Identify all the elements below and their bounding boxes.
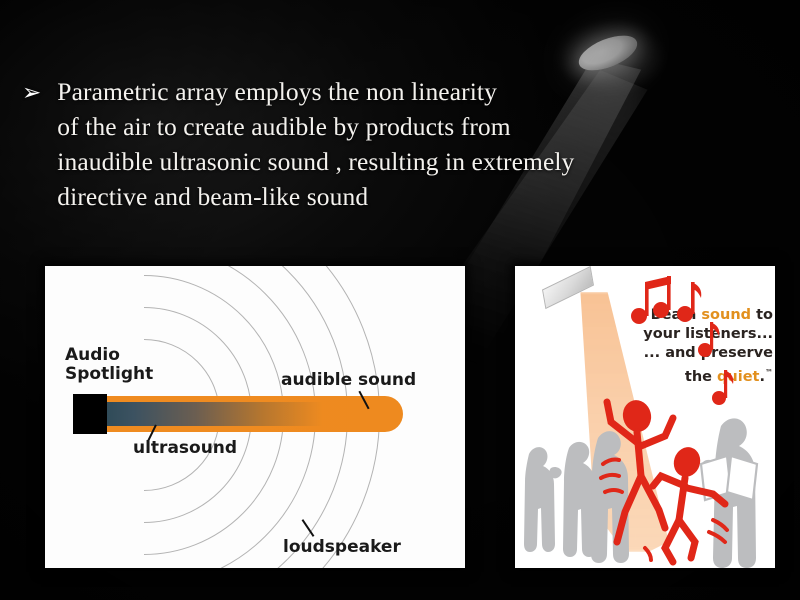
label-audible-sound: audible sound — [281, 370, 416, 390]
bullet-arrow-icon: ➢ — [22, 74, 41, 214]
slide-canvas: ➢ Parametric array employs the non linea… — [0, 0, 800, 600]
left-figure-stage: Audio Spotlight audible sound ultrasound… — [45, 266, 465, 568]
audio-spotlight-figure: Audio Spotlight audible sound ultrasound… — [45, 266, 465, 568]
label-ultrasound: ultrasound — [133, 438, 237, 458]
label-loudspeaker: loudspeaker — [283, 537, 401, 557]
music-note-icon — [631, 276, 671, 324]
crowd-illustration — [515, 266, 775, 568]
bullet-paragraph: ➢ Parametric array employs the non linea… — [22, 74, 762, 214]
music-note-icon — [698, 322, 719, 357]
music-note-icon — [677, 282, 701, 322]
music-note-icon — [712, 370, 733, 405]
grey-listener-silhouette — [563, 442, 596, 557]
label-audio-spotlight: Audio Spotlight — [65, 346, 153, 384]
audio-spotlight-emitter-icon — [73, 394, 107, 434]
beam-sound-figure: Beam sound to your listeners... ... and … — [515, 266, 775, 568]
right-figure-stage: Beam sound to your listeners... ... and … — [515, 266, 775, 568]
ultrasound-beam — [103, 402, 323, 426]
grey-listener-silhouette — [524, 447, 562, 552]
grey-listener-silhouette — [591, 431, 629, 563]
body-text: Parametric array employs the non lineari… — [57, 74, 574, 214]
